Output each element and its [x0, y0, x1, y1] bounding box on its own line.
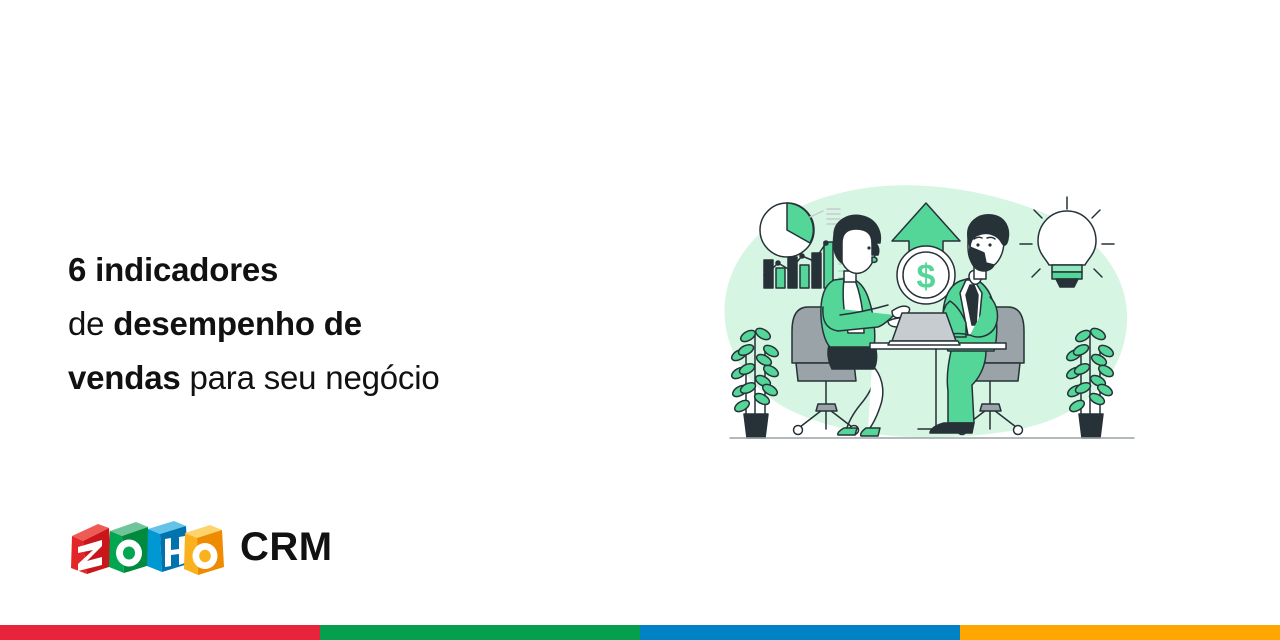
logo-block-z [71, 524, 112, 574]
colorbar-segment-red [0, 625, 320, 640]
logo-block-o1 [109, 522, 150, 573]
coin-dollar-symbol: $ [917, 258, 936, 296]
colorbar-segment-orange [960, 625, 1280, 640]
page-title: 6 indicadores de desempenho de vendas pa… [68, 243, 688, 405]
headline-line-3-regular: para seu negócio [181, 359, 440, 396]
headline-line-2-bold: desempenho de [113, 305, 362, 342]
colorbar-segment-blue [640, 625, 960, 640]
logo-product-name: CRM [240, 527, 333, 571]
zoho-logo-icon [68, 520, 226, 578]
headline-line-2: de desempenho de [68, 297, 688, 351]
headline-line-1-bold: 6 indicadores [68, 251, 278, 288]
business-meeting-illustration: $ [722, 185, 1142, 450]
hero-illustration: $ [722, 185, 1142, 450]
headline-line-2-regular: de [68, 305, 113, 342]
brand-color-bar [0, 625, 1280, 640]
logo-block-h [147, 521, 188, 572]
headline-line-3-bold: vendas [68, 359, 181, 396]
colorbar-segment-green [320, 625, 640, 640]
headline-line-3: vendas para seu negócio [68, 351, 688, 405]
logo-block-o2 [184, 525, 224, 575]
headline-line-1: 6 indicadores [68, 243, 688, 297]
zoho-crm-logo[interactable]: CRM [68, 518, 333, 580]
